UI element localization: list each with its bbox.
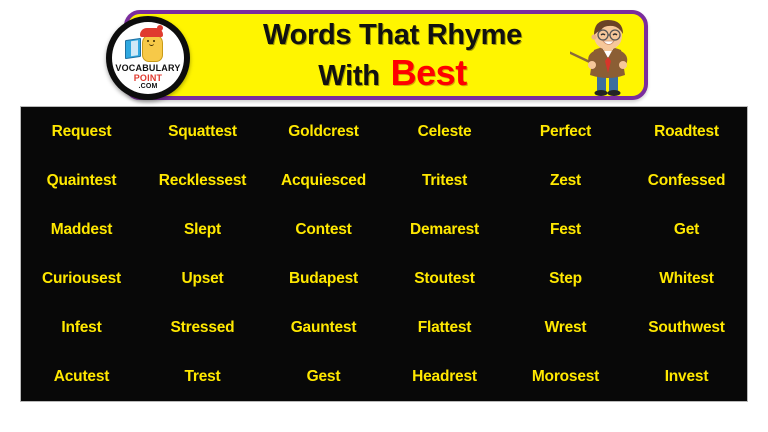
title-line-1: Words That Rhyme: [263, 20, 522, 50]
word-cell: Flattest: [418, 319, 472, 337]
mascot-face: [146, 40, 157, 45]
logo-text-point: POINT: [112, 73, 184, 83]
word-cell: Trest: [184, 368, 220, 386]
word-cell: Stoutest: [414, 270, 474, 288]
word-cell: Perfect: [540, 123, 591, 141]
logo-text-dotcom: .COM: [112, 83, 184, 90]
title-with-word: With: [318, 61, 379, 91]
word-cell: Curiousest: [42, 270, 121, 288]
word-cell: Infest: [61, 319, 101, 337]
logo-text-vocabulary: VOCABULARY: [112, 63, 184, 73]
title-line-2: With Best: [318, 54, 466, 92]
logo-inner-circle: VOCABULARY POINT .COM: [112, 22, 184, 94]
vocabulary-point-logo[interactable]: VOCABULARY POINT .COM: [106, 16, 190, 100]
mascot-eye-right: [153, 40, 155, 42]
word-grid-panel: Request Squattest Goldcrest Celeste Perf…: [20, 106, 748, 402]
word-cell: Get: [674, 221, 699, 239]
graduation-cap-icon: [140, 28, 163, 37]
word-cell: Confessed: [648, 172, 725, 190]
word-cell: Headrest: [412, 368, 477, 386]
book-icon: [125, 38, 141, 59]
word-cell: Celeste: [418, 123, 472, 141]
word-cell: Upset: [181, 270, 223, 288]
word-cell: Recklessest: [159, 172, 246, 190]
word-cell: Maddest: [51, 221, 112, 239]
word-cell: Morosest: [532, 368, 599, 386]
word-cell: Gauntest: [291, 319, 357, 337]
word-cell: Gest: [307, 368, 341, 386]
word-cell: Step: [549, 270, 582, 288]
word-cell: Wrest: [545, 319, 587, 337]
word-cell: Acutest: [54, 368, 109, 386]
word-cell: Invest: [665, 368, 709, 386]
poster-title: Words That Rhyme With Best: [195, 14, 590, 98]
poster-root: Words That Rhyme With Best VOCABULARY PO…: [0, 0, 768, 432]
word-cell: Slept: [184, 221, 221, 239]
word-cell: Demarest: [410, 221, 479, 239]
lightbulb-mascot-icon: [142, 34, 163, 62]
word-cell: Whitest: [659, 270, 714, 288]
logo-artwork: [112, 26, 184, 66]
word-cell: Roadtest: [654, 123, 719, 141]
word-cell: Acquiesced: [281, 172, 366, 190]
word-cell: Budapest: [289, 270, 358, 288]
word-cell: Zest: [550, 172, 581, 190]
word-cell: Contest: [295, 221, 351, 239]
word-cell: Request: [52, 123, 112, 141]
word-cell: Southwest: [648, 319, 725, 337]
word-cell: Stressed: [171, 319, 235, 337]
teacher-illustration: [570, 14, 648, 98]
word-cell: Squattest: [168, 123, 237, 141]
title-keyword: Best: [391, 54, 467, 92]
word-cell: Goldcrest: [288, 123, 359, 141]
word-grid: Request Squattest Goldcrest Celeste Perf…: [21, 107, 747, 401]
word-cell: Quaintest: [47, 172, 117, 190]
mascot-eye-left: [147, 40, 149, 42]
word-cell: Fest: [550, 221, 581, 239]
word-cell: Tritest: [422, 172, 467, 190]
